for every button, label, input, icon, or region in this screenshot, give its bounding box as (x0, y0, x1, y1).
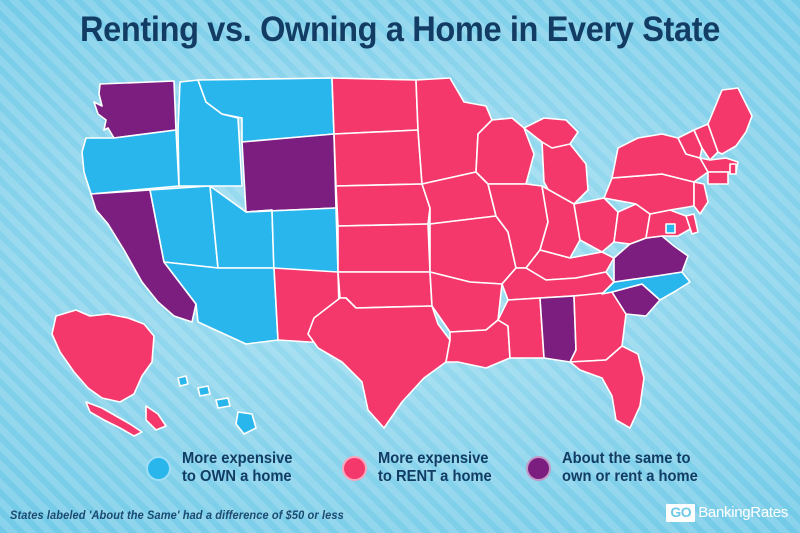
legend-label-same-line2: own or rent a home (562, 468, 698, 486)
state-PA[interactable] (604, 174, 694, 214)
state-DC[interactable] (666, 224, 675, 233)
us-choropleth-map (46, 72, 786, 444)
legend-item-same[interactable]: About the same to own or rent a home (526, 450, 706, 486)
legend-item-rent[interactable]: More expensive to RENT a home (342, 450, 526, 486)
state-HI[interactable] (178, 376, 256, 434)
state-RI[interactable] (730, 164, 736, 174)
infographic-root: Renting vs. Owning a Home in Every State (0, 0, 800, 533)
page-title: Renting vs. Owning a Home in Every State (28, 8, 772, 52)
legend-label-own-line2: to OWN a home (182, 468, 292, 486)
state-OR[interactable] (82, 130, 179, 194)
legend-swatch-same-icon (526, 456, 551, 481)
state-ME[interactable] (708, 88, 752, 154)
logo-wordmark: BankingRates (698, 505, 788, 521)
state-WY[interactable] (242, 134, 336, 212)
state-NE[interactable] (336, 184, 430, 226)
state-AL[interactable] (540, 296, 576, 362)
logo-go-mark: GO (666, 504, 695, 522)
legend: More expensive to OWN a home More expens… (146, 450, 706, 496)
legend-label-rent: More expensive to RENT a home (378, 450, 492, 486)
legend-label-rent-line2: to RENT a home (378, 468, 492, 486)
state-NJ[interactable] (694, 182, 708, 214)
state-OK[interactable] (338, 272, 432, 308)
state-WA[interactable] (94, 81, 176, 138)
state-KS[interactable] (338, 224, 430, 272)
legend-label-rent-line1: More expensive (378, 450, 492, 468)
gobankingrates-logo[interactable]: GO BankingRates (666, 503, 788, 523)
legend-item-own[interactable]: More expensive to OWN a home (146, 450, 342, 486)
state-AK[interactable] (52, 310, 166, 436)
footnote: States labeled 'About the Same' had a di… (10, 510, 344, 522)
state-SD[interactable] (334, 130, 422, 186)
legend-label-own: More expensive to OWN a home (182, 450, 292, 486)
legend-label-own-line1: More expensive (182, 450, 292, 468)
legend-swatch-rent-icon (342, 456, 367, 481)
state-TX[interactable] (308, 298, 450, 428)
legend-label-same: About the same to own or rent a home (562, 450, 698, 486)
legend-label-same-line1: About the same to (562, 450, 698, 468)
state-CT[interactable] (708, 172, 728, 184)
state-OH[interactable] (574, 198, 618, 252)
state-ND[interactable] (332, 78, 418, 134)
us-map-svg (46, 72, 786, 444)
title-bar: Renting vs. Owning a Home in Every State (0, 8, 800, 52)
legend-swatch-own-icon (146, 456, 171, 481)
